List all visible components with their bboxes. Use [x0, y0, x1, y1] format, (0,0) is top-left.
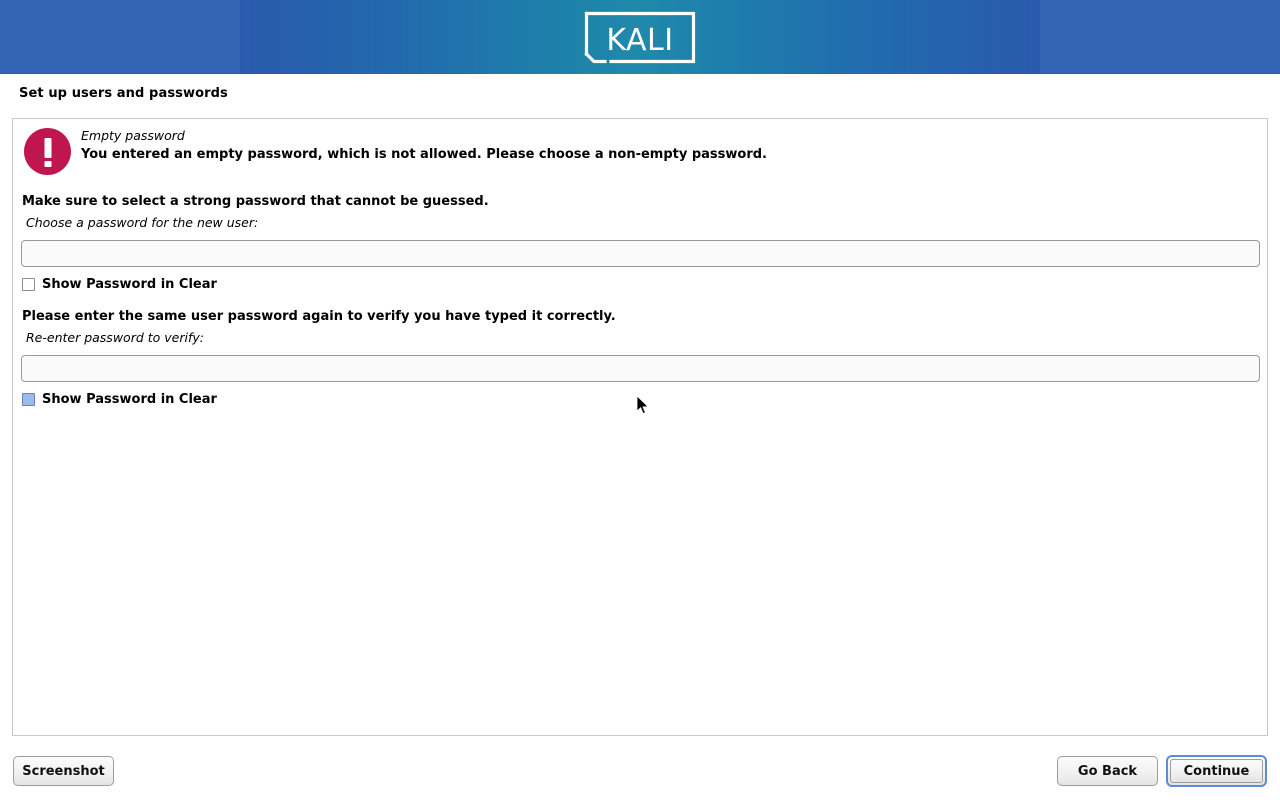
password-prompt: Make sure to select a strong password th…	[22, 194, 489, 209]
mouse-cursor-arrow-pointer	[636, 396, 650, 416]
verify-password-input[interactable]	[21, 355, 1260, 382]
screenshot-button[interactable]: Screenshot	[13, 756, 114, 786]
continue-button-label: Continue	[1184, 764, 1250, 779]
go-back-button[interactable]: Go Back	[1057, 756, 1158, 786]
kali-logo-icon: KALI	[583, 10, 697, 65]
checkbox-box[interactable]	[22, 278, 35, 291]
password-show-clear-checkbox[interactable]: Show Password in Clear	[22, 277, 217, 292]
go-back-button-label: Go Back	[1078, 764, 1137, 779]
password-show-clear-label: Show Password in Clear	[42, 277, 217, 292]
password-input[interactable]	[21, 240, 1260, 267]
installer-content-panel: Empty password You entered an empty pass…	[12, 118, 1268, 736]
svg-text:KALI: KALI	[606, 23, 673, 58]
continue-button[interactable]: Continue	[1166, 755, 1267, 787]
exclamation-dot	[44, 161, 51, 167]
error-notification: Empty password You entered an empty pass…	[13, 119, 1267, 127]
error-message: You entered an empty password, which is …	[81, 147, 767, 162]
checkbox-box[interactable]	[22, 393, 35, 406]
page-title: Set up users and passwords	[19, 86, 228, 101]
verify-field-label: Re-enter password to verify:	[26, 330, 204, 345]
installer-banner: KALI	[0, 0, 1280, 74]
password-field-label: Choose a password for the new user:	[26, 215, 258, 230]
verify-show-clear-label: Show Password in Clear	[42, 392, 217, 407]
verify-prompt: Please enter the same user password agai…	[22, 309, 616, 324]
exclamation-stem	[44, 138, 51, 158]
error-exclamation-icon	[24, 128, 71, 175]
verify-show-clear-checkbox[interactable]: Show Password in Clear	[22, 392, 217, 407]
screenshot-button-label: Screenshot	[22, 764, 105, 779]
error-heading: Empty password	[81, 128, 185, 143]
